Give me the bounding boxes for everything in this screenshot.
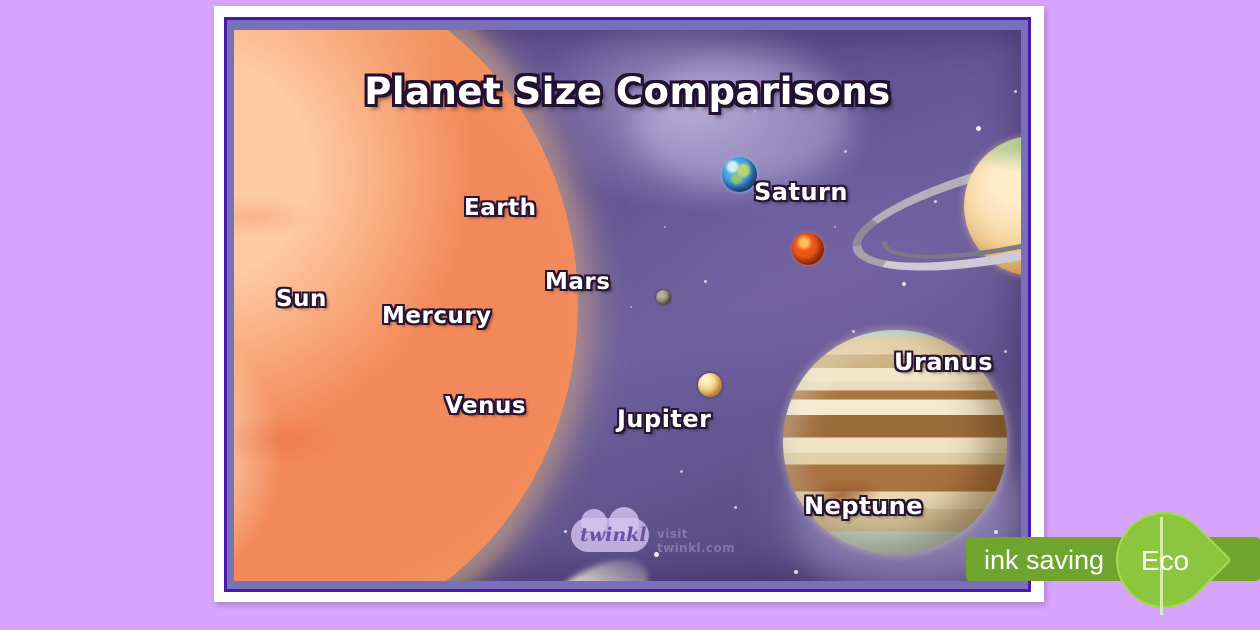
- twinkl-visit-text: visit twinkl.com: [657, 527, 751, 555]
- ink-saving-eco-badge: ink saving Eco: [966, 531, 1260, 587]
- eco-label: Eco: [1130, 545, 1200, 577]
- ink-saving-label: ink saving: [984, 545, 1104, 576]
- mercury-planet: [656, 290, 671, 305]
- label-jupiter: Jupiter: [617, 405, 712, 433]
- mars-planet: [792, 233, 824, 265]
- page-title: Planet Size Comparisons: [234, 70, 1021, 113]
- label-saturn: Saturn: [754, 178, 848, 206]
- venus-planet: [698, 373, 722, 397]
- label-mercury: Mercury: [382, 303, 492, 329]
- label-sun: Sun: [276, 286, 327, 312]
- label-uranus: Uranus: [894, 348, 993, 376]
- label-neptune: Neptune: [804, 492, 923, 520]
- earth-planet: [722, 157, 757, 192]
- poster-content: Planet Size Comparisons Sun Mercury Venu…: [234, 30, 1021, 581]
- twinkl-watermark: twinkl visit twinkl.com: [571, 516, 751, 556]
- label-earth: Earth: [464, 195, 536, 221]
- twinkl-logo-text: twinkl: [580, 524, 647, 546]
- saturn-planet: [854, 128, 1021, 288]
- label-mars: Mars: [545, 269, 610, 295]
- label-venus: Venus: [445, 393, 526, 419]
